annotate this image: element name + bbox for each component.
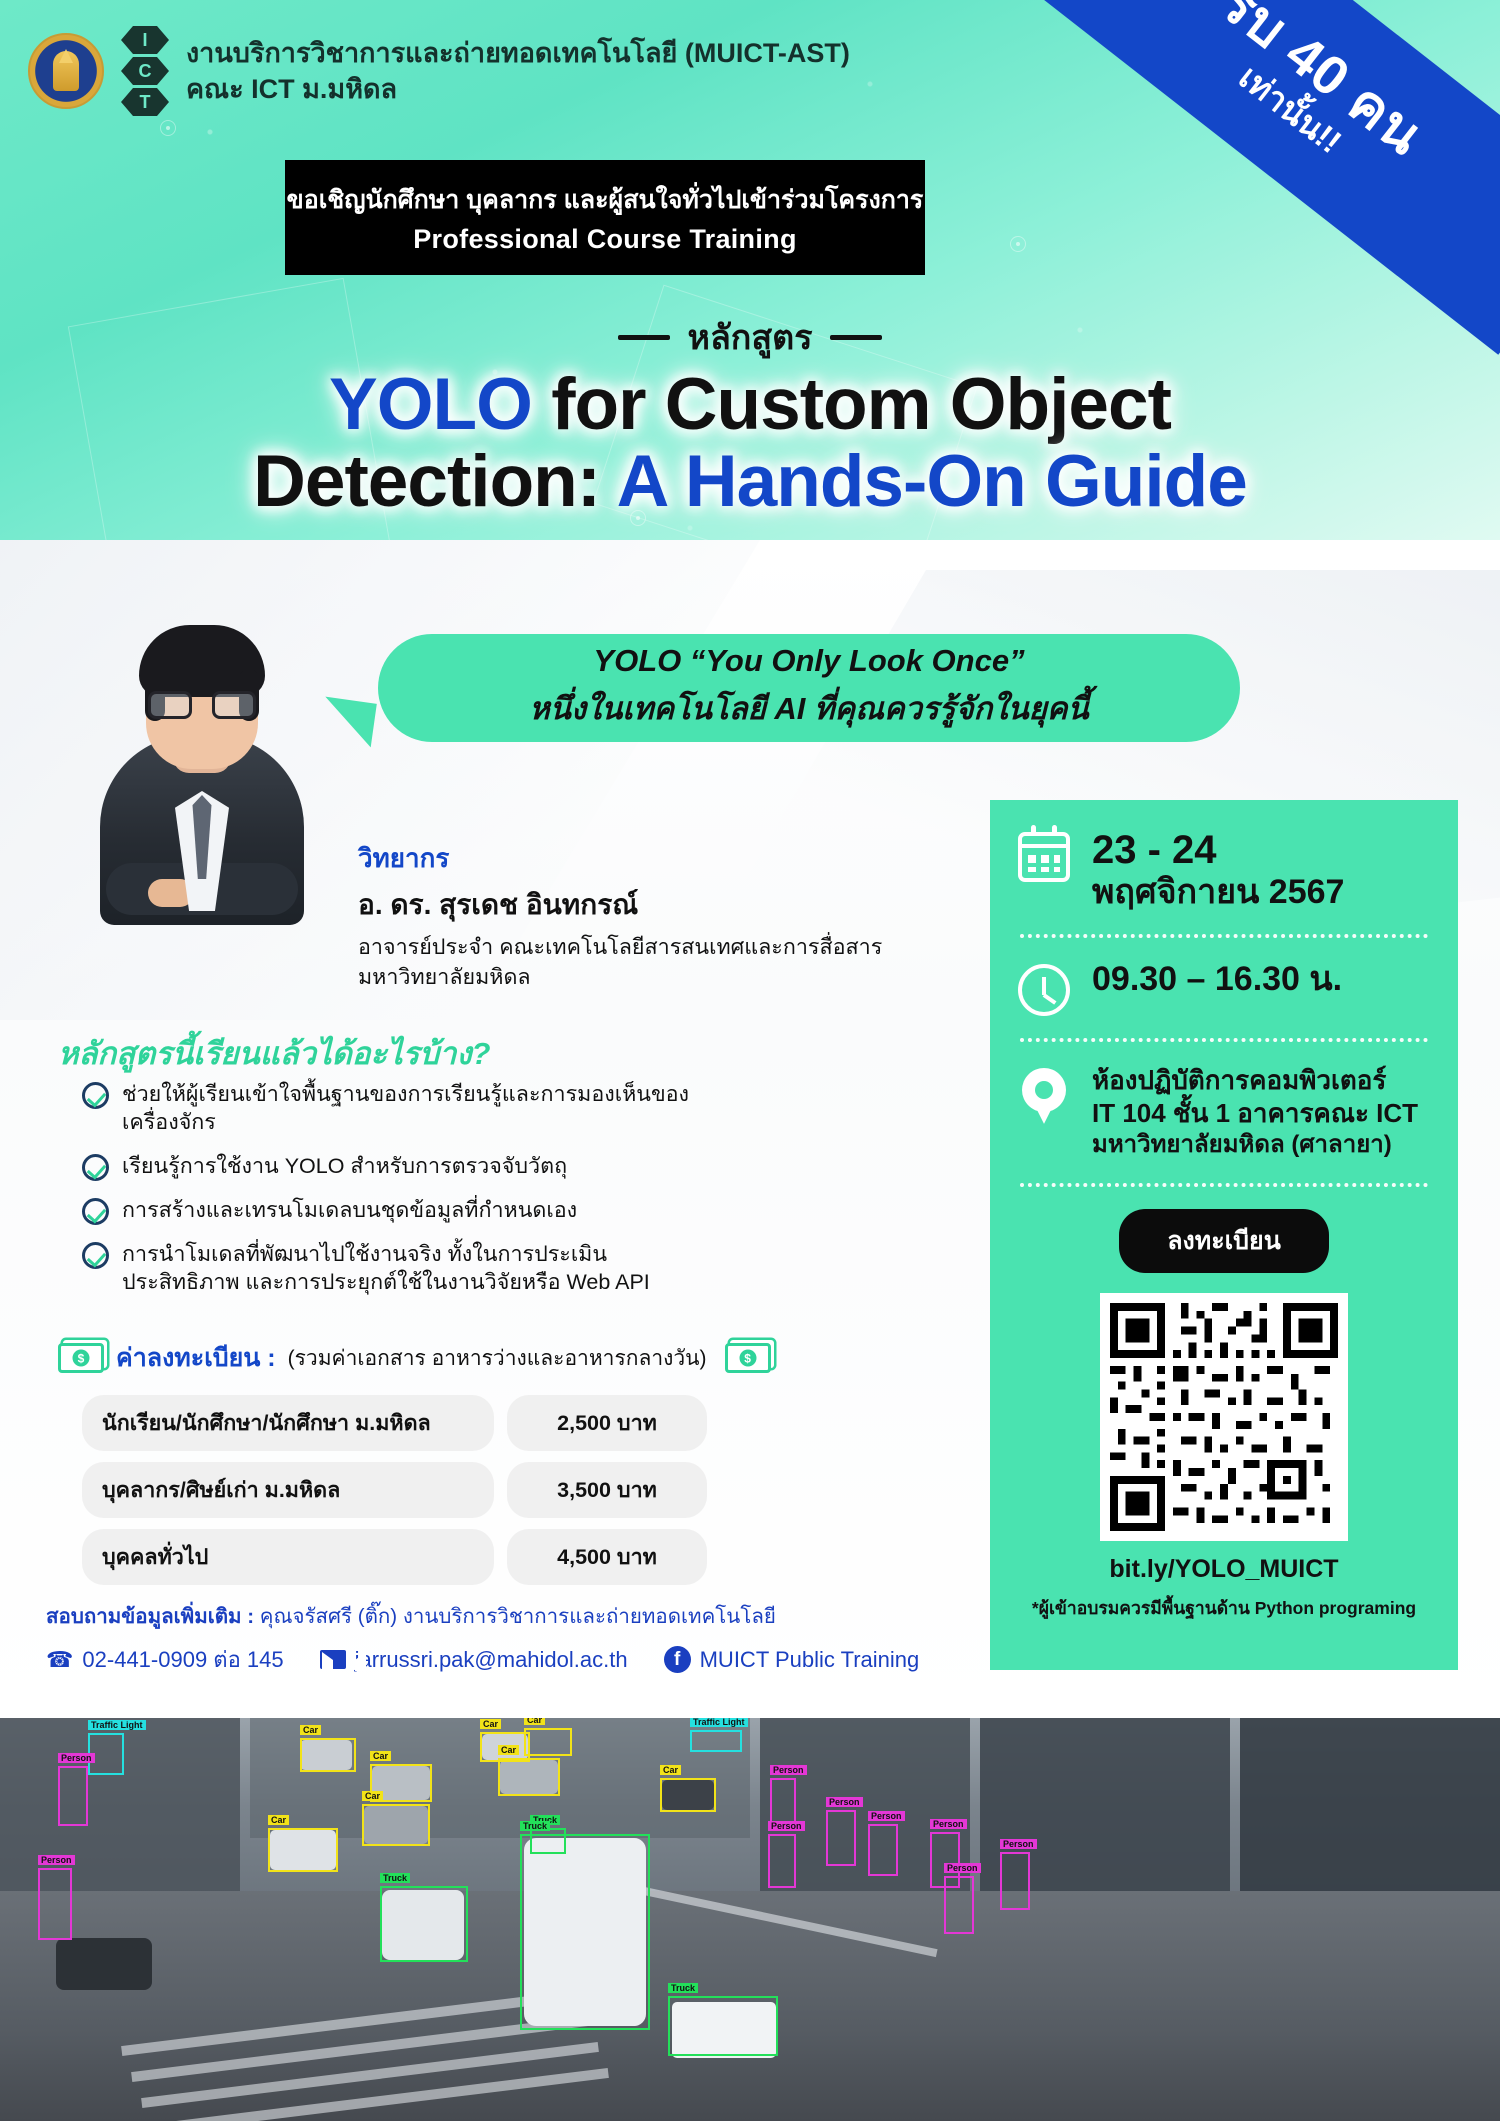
title-line2-highlight: A Hands-On Guide bbox=[617, 441, 1247, 522]
table-row: บุคคลทั่วไป 4,500 บาท bbox=[82, 1529, 707, 1585]
ict-logo-letter-t: T bbox=[121, 88, 169, 116]
check-circle-icon bbox=[82, 1154, 109, 1181]
poster-root: รับ 40 คน เท่านั้น!! I C T งานบริการวิชา… bbox=[0, 0, 1500, 2121]
invitation-line1: ขอเชิญนักศึกษา บุคลากร และผู้สนใจทั่วไปเ… bbox=[287, 180, 924, 220]
money-icon bbox=[58, 1343, 104, 1373]
title-line1-rest: for Custom Object bbox=[532, 364, 1171, 445]
speaker-name: อ. ดร. สุรเดช อินทกรณ์ bbox=[358, 883, 882, 927]
org-name-line1: งานบริการวิชาการและถ่ายทอดเทคโนโลยี (MUI… bbox=[186, 35, 850, 71]
page-title: YOLO for Custom Object Detection: A Hand… bbox=[0, 366, 1500, 521]
mahidol-seal-icon bbox=[28, 33, 104, 109]
bubble-line2: หนึ่งในเทคโนโลยี AI ที่คุณควรรู้จักในยุค… bbox=[529, 683, 1088, 733]
speech-bubble-tail bbox=[319, 697, 377, 748]
contact-email[interactable]: jarrussri.pak@mahidol.ac.th bbox=[355, 1647, 628, 1673]
rule-left bbox=[618, 335, 670, 340]
venue-line3: มหาวิทยาลัยมหิดล (ศาลายา) bbox=[1092, 1130, 1418, 1161]
speaker-affiliation-line2: มหาวิทยาลัยมหิดล bbox=[358, 963, 882, 993]
table-row: บุคลากร/ศิษย์เก่า ม.มหิดล 3,500 บาท bbox=[82, 1462, 707, 1518]
qr-link-text[interactable]: bit.ly/YOLO_MUICT bbox=[1016, 1555, 1432, 1584]
speaker-photo bbox=[92, 595, 312, 925]
event-time: 09.30 – 16.30 น. bbox=[1092, 960, 1342, 998]
outcome-text: การนำโมเดลที่พัฒนาไปใช้งานจริง ทั้งในการ… bbox=[122, 1240, 722, 1297]
fee-label: บุคลากร/ศิษย์เก่า ม.มหิดล bbox=[82, 1462, 494, 1518]
clock-icon bbox=[1016, 960, 1072, 1016]
facebook-icon[interactable]: f bbox=[664, 1646, 691, 1673]
event-details-panel: 23 - 24 พฤศจิกายน 2567 09.30 – 16.30 น. … bbox=[990, 800, 1458, 1670]
invitation-banner: ขอเชิญนักศึกษา บุคลากร และผู้สนใจทั่วไปเ… bbox=[285, 160, 925, 275]
fee-price: 2,500 บาท bbox=[507, 1395, 707, 1451]
list-item: ช่วยให้ผู้เรียนเข้าใจพื้นฐานของการเรียนร… bbox=[82, 1080, 722, 1137]
outcomes-heading: หลักสูตรนี้เรียนแล้วได้อะไรบ้าง? bbox=[58, 1028, 490, 1078]
contact-facebook[interactable]: MUICT Public Training bbox=[700, 1647, 920, 1673]
bubble-line1: YOLO “You Only Look Once” bbox=[593, 643, 1024, 679]
contact-block: สอบถามข้อมูลเพิ่มเติม : คุณจรัสศรี (ติ๊ก… bbox=[46, 1600, 919, 1677]
outcome-text: ช่วยให้ผู้เรียนเข้าใจพื้นฐานของการเรียนร… bbox=[122, 1080, 722, 1137]
ict-logo-icon: I C T bbox=[118, 26, 172, 116]
venue-line1: ห้องปฏิบัติการคอมพิวเตอร์ bbox=[1092, 1064, 1418, 1097]
money-icon bbox=[725, 1343, 771, 1373]
speaker-role-label: วิทยากร bbox=[358, 838, 882, 879]
event-date-month: พฤศจิกายน 2567 bbox=[1092, 873, 1344, 912]
outcomes-list: ช่วยให้ผู้เรียนเข้าใจพื้นฐานของการเรียนร… bbox=[82, 1080, 722, 1312]
check-circle-icon bbox=[82, 1082, 109, 1109]
prerequisite-note: *ผู้เข้าอบรมควรมีพื้นฐานด้าน Python prog… bbox=[1016, 1594, 1432, 1622]
date-row: 23 - 24 พฤศจิกายน 2567 bbox=[1016, 828, 1432, 912]
fee-title: ค่าลงทะเบียน : bbox=[116, 1338, 276, 1378]
contact-phone[interactable]: 02-441-0909 ต่อ 145 bbox=[82, 1642, 283, 1677]
fee-note: (รวมค่าเอกสาร อาหารว่างและอาหารกลางวัน) bbox=[288, 1342, 707, 1375]
glasses-icon bbox=[148, 691, 256, 721]
street-detection-image: Traffic Light Person Person Car Car Car … bbox=[0, 1718, 1500, 2121]
fee-price: 3,500 บาท bbox=[507, 1462, 707, 1518]
fee-label: นักเรียน/นักศึกษา/นักศึกษา ม.มหิดล bbox=[82, 1395, 494, 1451]
rule-right bbox=[830, 335, 882, 340]
fee-heading-row: ค่าลงทะเบียน : (รวมค่าเอกสาร อาหารว่างแล… bbox=[58, 1338, 771, 1378]
check-circle-icon bbox=[82, 1242, 109, 1269]
time-row: 09.30 – 16.30 น. bbox=[1016, 960, 1432, 1016]
qr-code[interactable] bbox=[1100, 1293, 1348, 1541]
calendar-icon bbox=[1016, 828, 1072, 882]
header-branding: I C T งานบริการวิชาการและถ่ายทอดเทคโนโลย… bbox=[28, 26, 850, 116]
fee-price: 4,500 บาท bbox=[507, 1529, 707, 1585]
event-date-days: 23 - 24 bbox=[1092, 828, 1344, 873]
speaker-info: วิทยากร อ. ดร. สุรเดช อินทกรณ์ อาจารย์ปร… bbox=[358, 838, 882, 992]
check-circle-icon bbox=[82, 1198, 109, 1225]
divider bbox=[1020, 934, 1428, 938]
contact-label: สอบถามข้อมูลเพิ่มเติม : bbox=[46, 1605, 254, 1628]
table-row: นักเรียน/นักศึกษา/นักศึกษา ม.มหิดล 2,500… bbox=[82, 1395, 707, 1451]
outcome-text: เรียนรู้การใช้งาน YOLO สำหรับการตรวจจับว… bbox=[122, 1152, 567, 1180]
course-label-text: หลักสูตร bbox=[688, 310, 813, 364]
title-yolo: YOLO bbox=[329, 364, 532, 445]
list-item: เรียนรู้การใช้งาน YOLO สำหรับการตรวจจับว… bbox=[82, 1152, 722, 1181]
speech-bubble: YOLO “You Only Look Once” หนึ่งในเทคโนโล… bbox=[378, 634, 1240, 742]
invitation-line2: Professional Course Training bbox=[413, 224, 797, 255]
title-line2-start: Detection: bbox=[253, 441, 616, 522]
outcome-text: การสร้างและเทรนโมเดลบนชุดข้อมูลที่กำหนดเ… bbox=[122, 1196, 577, 1224]
fee-table: นักเรียน/นักศึกษา/นักศึกษา ม.มหิดล 2,500… bbox=[82, 1395, 707, 1596]
speaker-affiliation-line1: อาจารย์ประจำ คณะเทคโนโลยีสารสนเทศและการส… bbox=[358, 933, 882, 963]
register-button[interactable]: ลงทะเบียน bbox=[1119, 1209, 1329, 1273]
course-label-row: หลักสูตร bbox=[0, 310, 1500, 364]
location-pin-icon bbox=[1016, 1064, 1072, 1126]
venue-row: ห้องปฏิบัติการคอมพิวเตอร์ IT 104 ชั้น 1 … bbox=[1016, 1064, 1432, 1161]
list-item: การสร้างและเทรนโมเดลบนชุดข้อมูลที่กำหนดเ… bbox=[82, 1196, 722, 1225]
divider bbox=[1020, 1183, 1428, 1187]
ict-logo-letter-i: I bbox=[121, 26, 169, 54]
decorative-node-icon bbox=[160, 120, 176, 136]
list-item: การนำโมเดลที่พัฒนาไปใช้งานจริง ทั้งในการ… bbox=[82, 1240, 722, 1297]
fee-label: บุคคลทั่วไป bbox=[82, 1529, 494, 1585]
ict-logo-letter-c: C bbox=[121, 57, 169, 85]
venue-line2: IT 104 ชั้น 1 อาคารคณะ ICT bbox=[1092, 1097, 1418, 1130]
mail-icon bbox=[320, 1650, 346, 1669]
org-name-line2: คณะ ICT ม.มหิดล bbox=[186, 71, 850, 107]
phone-icon: ☎ bbox=[46, 1647, 73, 1673]
divider bbox=[1020, 1038, 1428, 1042]
contact-person: คุณจรัสศรี (ติ๊ก) งานบริการวิชาการและถ่า… bbox=[254, 1605, 776, 1628]
